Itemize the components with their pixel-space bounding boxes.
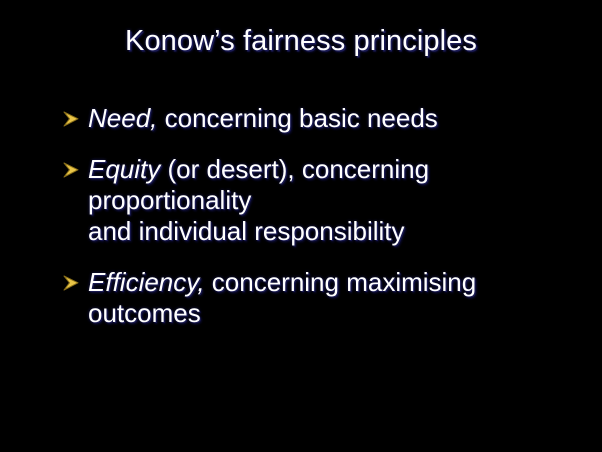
bullet-lead-term: Efficiency, (88, 267, 205, 297)
arrow-bullet-icon (61, 273, 81, 293)
bullet-wrap-line: and individual responsibility (88, 216, 590, 247)
bullet-body-text: concerning basic needs (157, 103, 437, 133)
bullet-lead-term: Need, (88, 103, 157, 133)
list-item: Equity (or desert), concerning proportio… (60, 154, 590, 247)
arrow-bullet-icon (61, 160, 81, 180)
page-title: Konow’s fairness principles (0, 24, 602, 58)
bullet-list: Need, concerning basic needs Equity (or … (60, 103, 590, 329)
list-item: Need, concerning basic needs (60, 103, 590, 134)
slide-canvas: Konow’s fairness principles Need, concer… (0, 0, 602, 452)
list-item: Efficiency, concerning maximising outcom… (60, 267, 590, 329)
bullet-lead-term: Equity (88, 154, 160, 184)
arrow-bullet-icon (61, 109, 81, 129)
